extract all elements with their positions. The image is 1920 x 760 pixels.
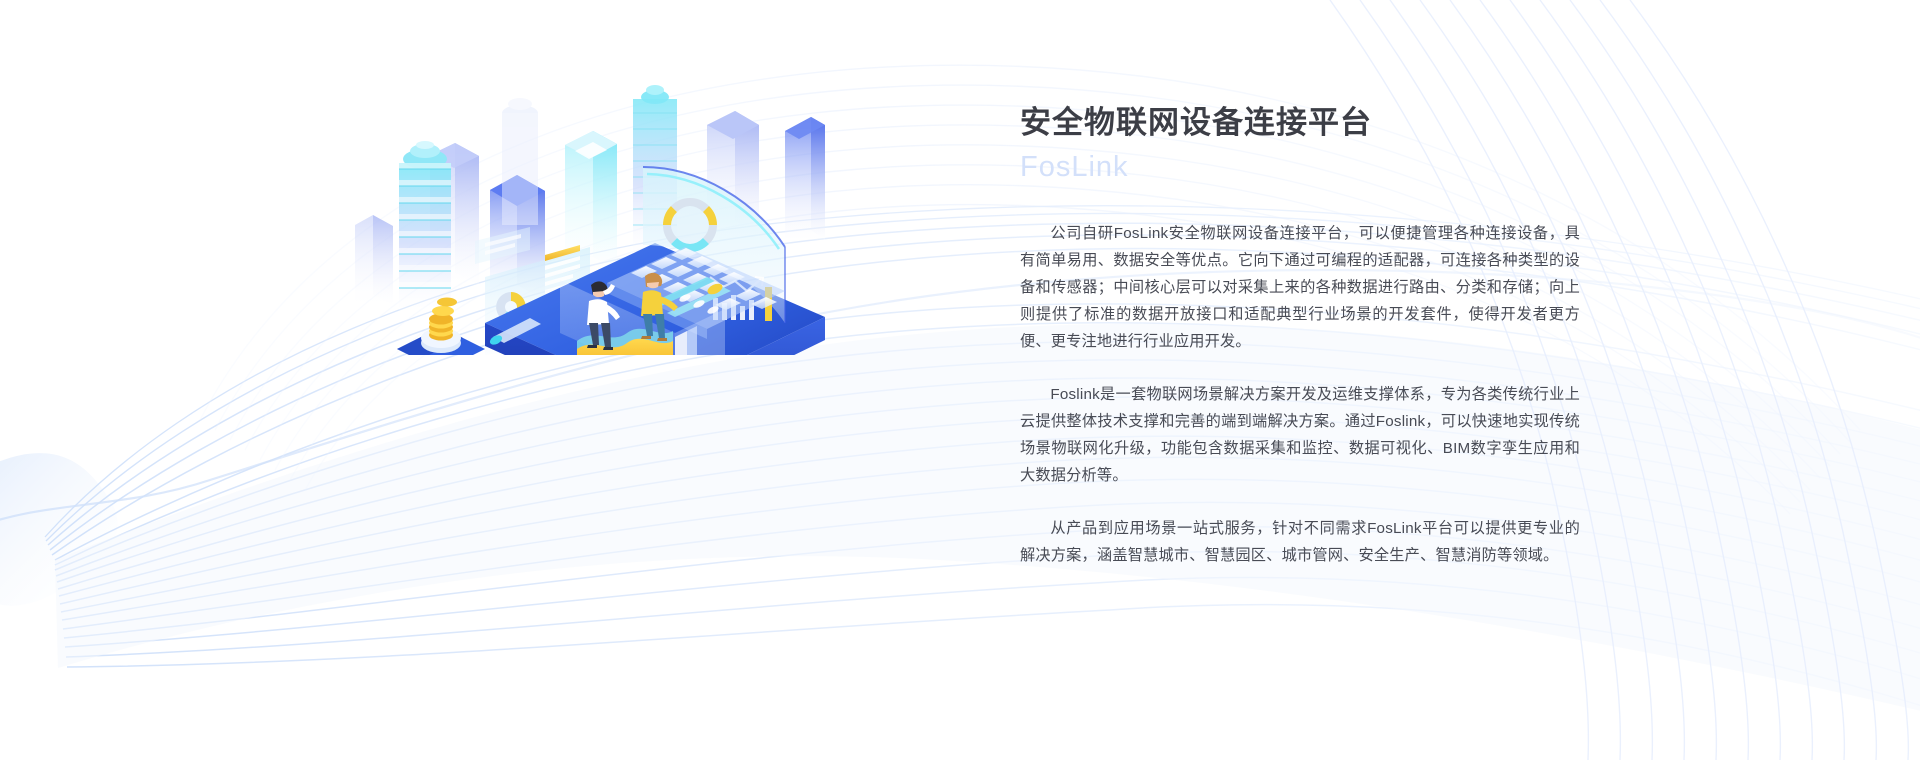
hero-text-column: 安全物联网设备连接平台 FosLink 公司自研FosLink安全物联网设备连接…: [1020, 104, 1580, 569]
wave-lower-fan: [55, 304, 1920, 718]
donut-chart: [663, 198, 717, 252]
wave-left-swirl: [0, 270, 1920, 606]
building-pale-round-tower: [502, 98, 538, 225]
wave-pale-band: [55, 324, 1920, 720]
wave-upper-fan: [45, 206, 1920, 555]
building-tiered-round-tower: [399, 141, 451, 310]
building-far-right: [785, 117, 825, 240]
hero-section: 安全物联网设备连接平台 FosLink 公司自研FosLink安全物联网设备连接…: [0, 0, 1920, 760]
paragraph-3: 从产品到应用场景一站式服务，针对不同需求FosLink平台可以提供更专业的解决方…: [1020, 515, 1580, 569]
isometric-smart-city-illustration: [355, 55, 825, 355]
paragraph-1: 公司自研FosLink安全物联网设备连接平台，可以便捷管理各种连接设备，具有简单…: [1020, 220, 1580, 355]
page-title: 安全物联网设备连接平台: [1020, 104, 1580, 143]
page-subtitle: FosLink: [1020, 149, 1580, 187]
paragraph-2: Foslink是一套物联网场景解决方案开发及运维支撑体系，专为各类传统行业上云提…: [1020, 381, 1580, 489]
building-far-left: [355, 215, 393, 305]
background-wave-lines: [0, 0, 1920, 760]
description-paragraphs: 公司自研FosLink安全物联网设备连接平台，可以便捷管理各种连接设备，具有简单…: [1020, 220, 1580, 569]
